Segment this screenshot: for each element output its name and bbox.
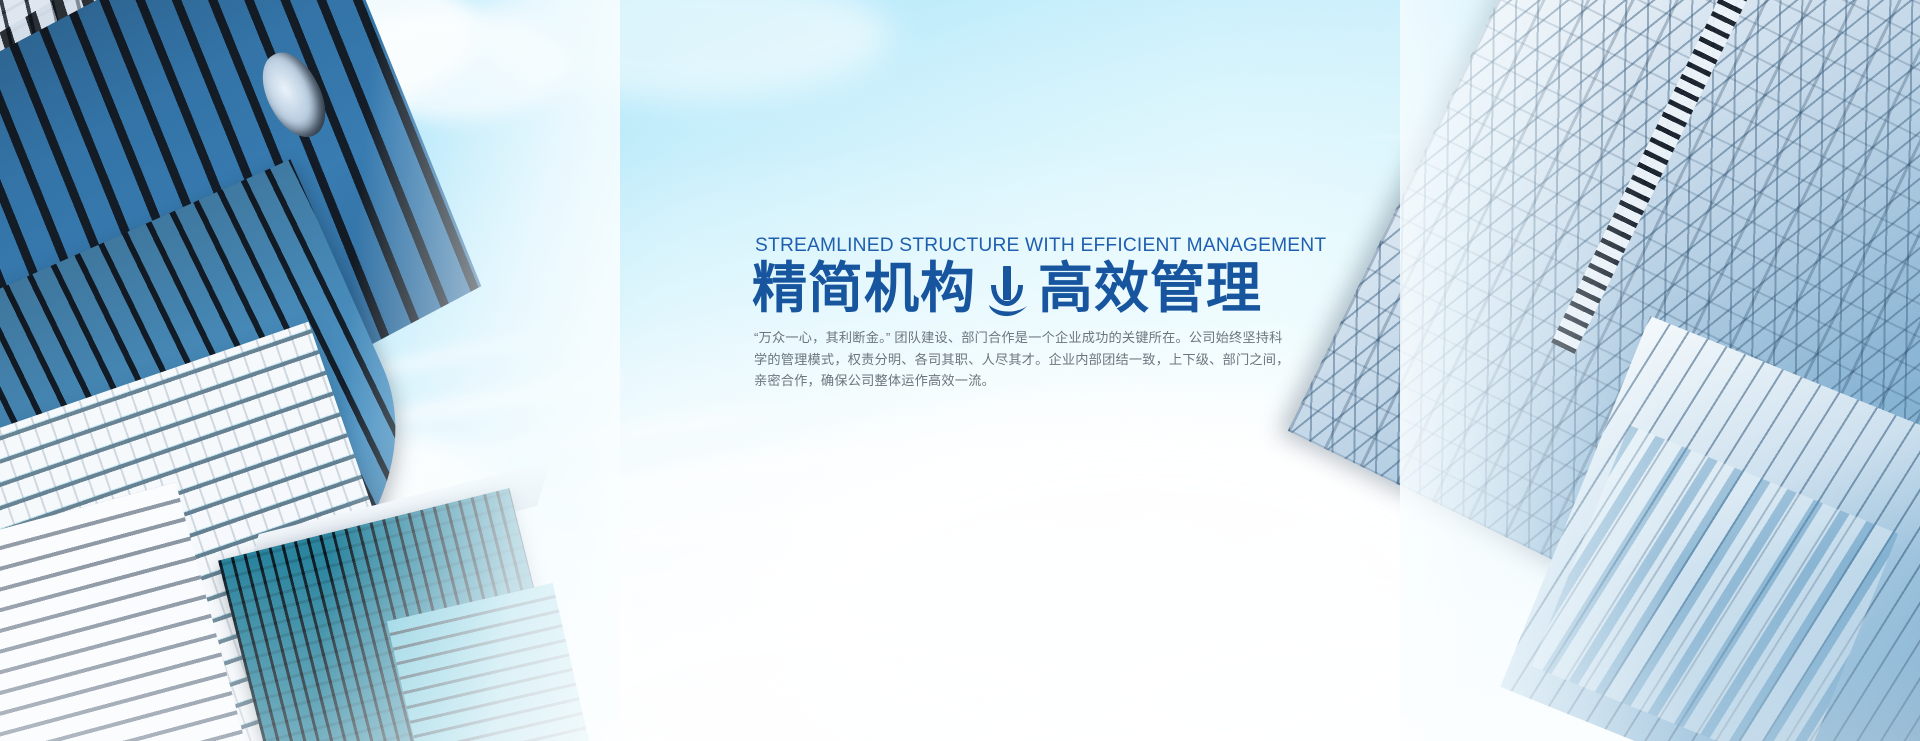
headline-left-text: 精简机构 (752, 260, 976, 318)
banner-blurb: “万众一心，其利断金。” 团队建设、部门合作是一个企业成功的关键所在。公司始终坚… (754, 327, 1294, 391)
headline-right-text: 高效管理 (1038, 260, 1262, 318)
banner-eyebrow: STREAMLINED STRUCTURE WITH EFFICIENT MAN… (755, 236, 1304, 256)
banner-content: STREAMLINED STRUCTURE WITH EFFICIENT MAN… (752, 236, 1312, 391)
hero-banner: STREAMLINED STRUCTURE WITH EFFICIENT MAN… (0, 0, 1920, 741)
company-logo-mark-icon (985, 265, 1029, 317)
banner-headline: 精简机构 高效管理 (752, 260, 1312, 318)
banner-blurb-text: “万众一心，其利断金。” 团队建设、部门合作是一个企业成功的关键所在。公司始终坚… (754, 327, 1294, 391)
